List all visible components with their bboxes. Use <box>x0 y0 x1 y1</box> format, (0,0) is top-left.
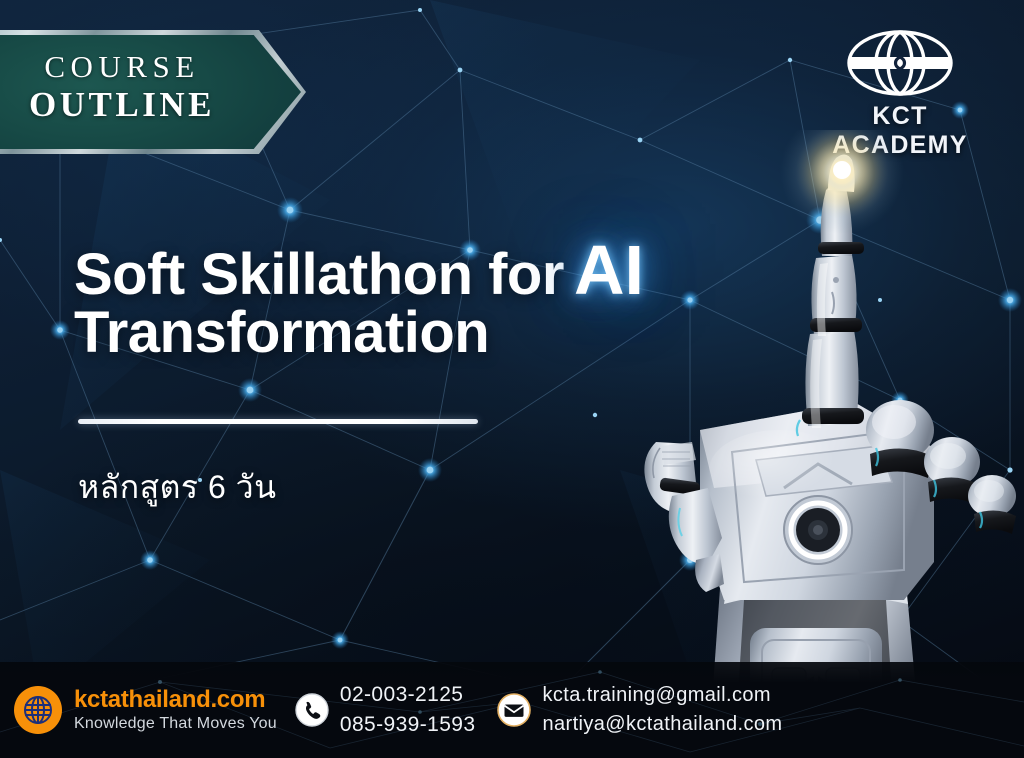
email-addresses: kcta.training@gmail.com nartiya@kctathai… <box>542 681 782 739</box>
banner-line-course: COURSE <box>12 50 232 83</box>
headline-second-line: Transformation <box>74 305 774 362</box>
title-main-text: Soft Skillathon for <box>74 242 564 307</box>
footer-website-text: kctathailand.com Knowledge That Moves Yo… <box>74 687 277 732</box>
banner-line-outline: OUTLINE <box>12 85 232 126</box>
globe-icon <box>14 686 62 734</box>
globe-logo-icon <box>834 28 966 98</box>
website-url[interactable]: kctathailand.com <box>74 687 277 712</box>
contact-footer-bar: kctathailand.com Knowledge That Moves Yo… <box>0 662 1024 758</box>
course-outline-poster: COURSE OUTLINE KCT ACADEMY <box>0 0 1024 758</box>
footer-website-group[interactable]: kctathailand.com Knowledge That Moves Yo… <box>14 686 277 734</box>
footer-email-group[interactable]: kcta.training@gmail.com nartiya@kctathai… <box>497 681 782 739</box>
title-second-line-text: Transformation <box>74 300 489 365</box>
phone-number-1[interactable]: 02-003-2125 <box>340 680 476 710</box>
footer-content: kctathailand.com Knowledge That Moves Yo… <box>0 662 1024 758</box>
envelope-icon <box>497 693 531 727</box>
banner-text-group: COURSE OUTLINE <box>12 50 232 126</box>
headline-block: Soft Skillathon forAI Transformation <box>74 236 774 361</box>
phone-icon <box>295 693 329 727</box>
website-tagline: Knowledge That Moves You <box>74 715 277 733</box>
email-address-2[interactable]: nartiya@kctathailand.com <box>542 710 782 739</box>
footer-phone-group[interactable]: 02-003-2125 085-939-1593 <box>295 680 476 740</box>
course-outline-banner: COURSE OUTLINE <box>0 30 306 154</box>
title-accent-ai: AI <box>574 231 644 309</box>
headline-first-line: Soft Skillathon forAI <box>74 236 774 305</box>
course-duration-thai: หลักสูตร 6 วัน <box>78 462 277 513</box>
phone-number-2[interactable]: 085-939-1593 <box>340 710 476 740</box>
phone-numbers: 02-003-2125 085-939-1593 <box>340 680 476 740</box>
email-address-1[interactable]: kcta.training@gmail.com <box>542 681 782 710</box>
title-divider-rule <box>78 419 478 424</box>
